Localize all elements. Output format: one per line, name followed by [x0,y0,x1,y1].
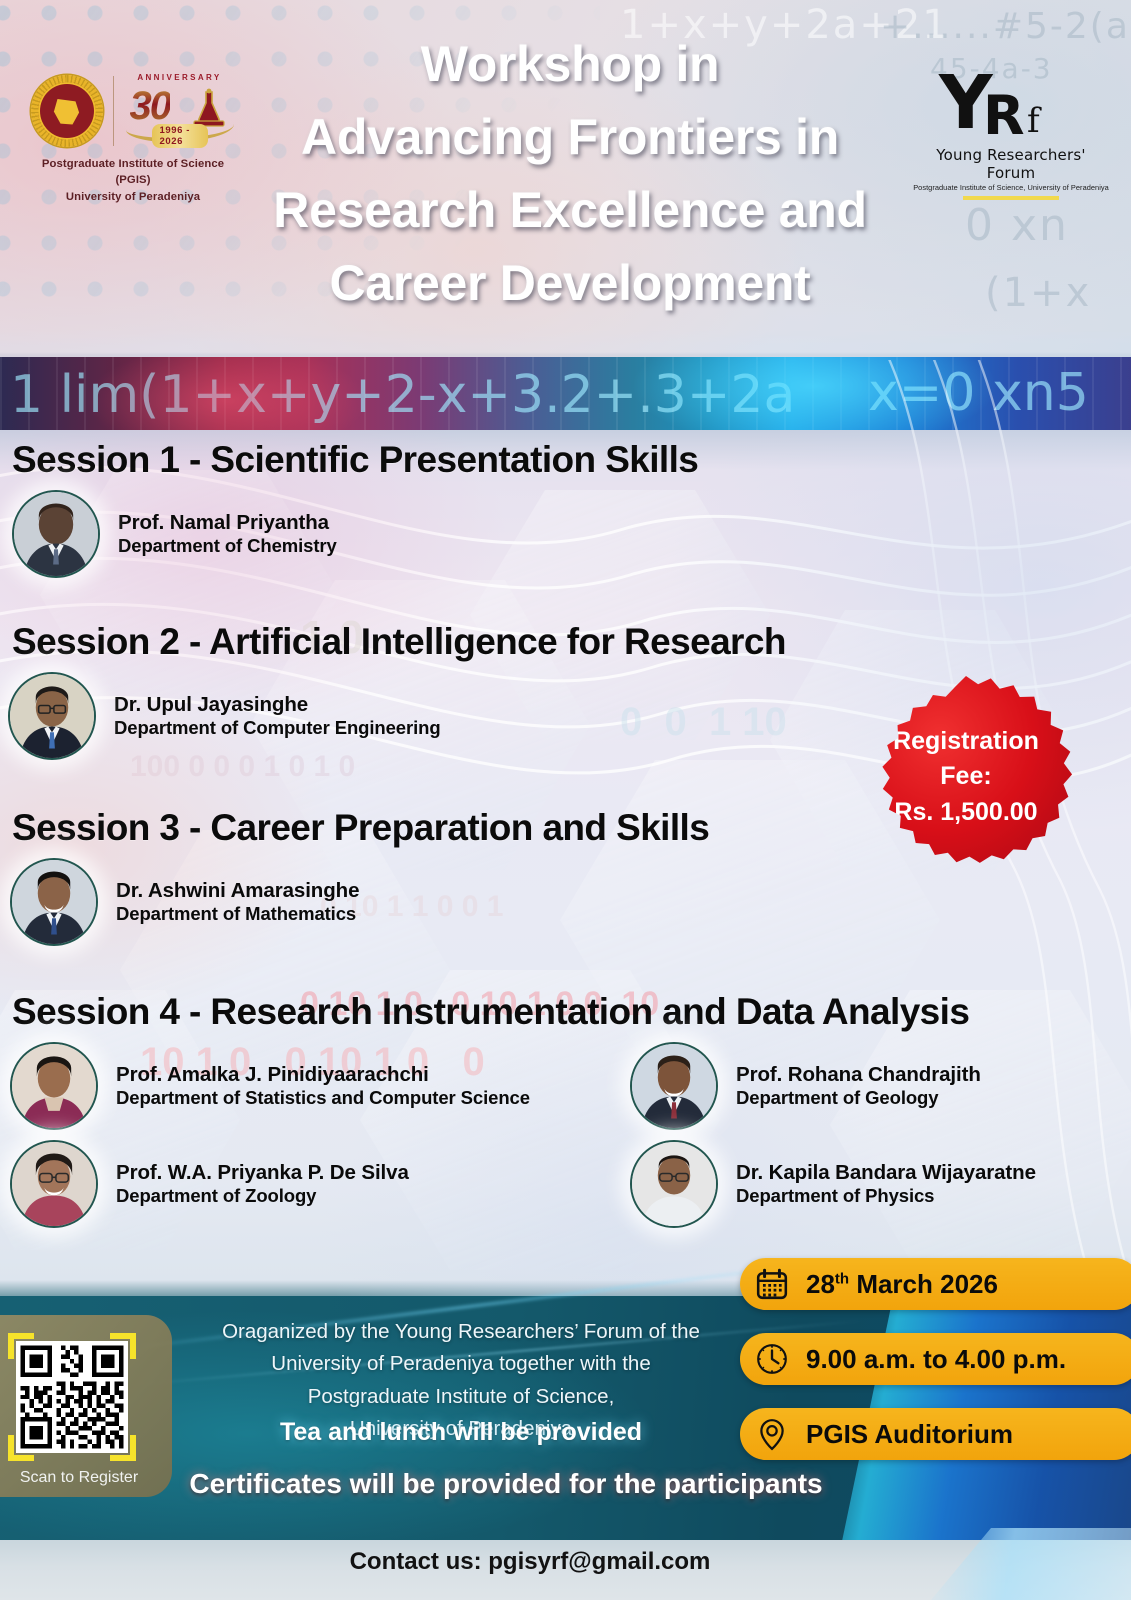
speaker-name: Prof. W.A. Priyanka P. De Silva [116,1161,409,1186]
organizer-line-3: Postgraduate Institute of Science, [176,1381,746,1413]
portrait-icon [12,1044,96,1128]
speaker-name: Dr. Upul Jayasinghe [114,693,441,718]
qr-bracket-bottom-left [8,1435,34,1461]
organizer-line-1: Oraganized by the Young Researchers’ For… [176,1316,746,1348]
yrf-underline [963,196,1059,200]
speaker-department: Department of Zoology [116,1185,409,1207]
session-1: Session 1 - Scientific Presentation Skil… [0,440,1131,578]
date-month-year: March 2026 [849,1269,998,1299]
yrf-logo-block: Y R f Young Researchers' Forum Postgradu… [911,72,1111,200]
clock-icon [750,1337,794,1381]
title-line-1: Workshop in [175,28,965,101]
qr-bracket-top-right [110,1333,136,1359]
speaker-card: Prof. Rohana Chandrajith Department of G… [630,1042,981,1130]
speaker-name: Dr. Ashwini Amarasinghe [116,879,359,904]
speaker-card: Prof. Namal Priyantha Department of Chem… [12,490,337,578]
title-line-2: Advancing Frontiers in [175,101,965,174]
calendar-icon [750,1262,794,1306]
session-1-title: Session 1 - Scientific Presentation Skil… [0,440,1131,480]
venue-badge[interactable]: PGIS Auditorium [740,1408,1131,1460]
speaker-department: Department of Geology [736,1087,981,1109]
certificates-note: Certificates will be provided for the pa… [96,1468,916,1500]
session-4-title: Session 4 - Research Instrumentation and… [0,992,1131,1032]
avatar [8,672,96,760]
speaker-name: Prof. Rohana Chandrajith [736,1063,981,1088]
speaker-department: Department of Physics [736,1185,1036,1207]
title-line-4: Career Development [175,247,965,320]
portrait-icon [12,860,96,944]
speaker-department: Department of Mathematics [116,903,359,925]
avatar [10,1140,98,1228]
location-pin-icon [750,1412,794,1456]
portrait-icon [632,1142,716,1226]
avatar [630,1140,718,1228]
session-4: Session 4 - Research Instrumentation and… [0,992,1131,1228]
date-badge[interactable]: 28th March 2026 [740,1258,1131,1310]
tea-lunch-note: Tea and lunch will be provided [176,1418,746,1447]
speaker-card: Prof. Amalka J. Pinidiyaarachchi Departm… [10,1042,630,1130]
yrf-letter-r: R [983,94,1025,137]
avatar [12,490,100,578]
title-line-3: Research Excellence and [175,174,965,247]
avatar [630,1042,718,1130]
speaker-name: Prof. Namal Priyantha [118,511,337,536]
fee-line-2: Fee: [893,759,1039,795]
qr-bracket-bottom-right [110,1435,136,1461]
portrait-icon [12,1142,96,1226]
speaker-department: Department of Statistics and Computer Sc… [116,1087,530,1109]
time-badge[interactable]: 9.00 a.m. to 4.00 p.m. [740,1333,1131,1385]
poster-root: 1+x+y+2a+21 +......#5-2(a.41 45-4a-3 0 x… [0,0,1131,1600]
speaker-name: Dr. Kapila Bandara Wijayaratne [736,1161,1036,1186]
date-day: 28 [806,1269,835,1299]
time-badge-text: 9.00 a.m. to 4.00 p.m. [806,1344,1066,1375]
yrf-letter-f: f [1027,108,1040,135]
pgis-crest-icon [31,75,103,147]
speaker-card: Dr. Upul Jayasinghe Department of Comput… [8,672,441,760]
speaker-department: Department of Computer Engineering [114,717,441,739]
speaker-card: Prof. W.A. Priyanka P. De Silva Departme… [10,1140,630,1228]
avatar [10,858,98,946]
speaker-department: Department of Chemistry [118,535,337,557]
qr-code[interactable] [8,1333,136,1461]
venue-badge-text: PGIS Auditorium [806,1419,1013,1450]
portrait-icon [14,492,98,576]
yrf-subtitle: Postgraduate Institute of Science, Unive… [911,183,1111,192]
qr-bracket-top-left [8,1333,34,1359]
contact-info: Contact us: pgisyrf@gmail.com [0,1548,1060,1576]
fee-line-1: Registration [893,724,1039,760]
speaker-name: Prof. Amalka J. Pinidiyaarachchi [116,1063,530,1088]
portrait-icon [10,674,94,758]
speaker-card: Dr. Kapila Bandara Wijayaratne Departmen… [630,1140,1036,1228]
page-title: Workshop in Advancing Frontiers in Resea… [175,28,965,320]
session-2-title: Session 2 - Artificial Intelligence for … [0,622,1131,662]
fee-line-3: Rs. 1,500.00 [893,795,1039,831]
yrf-mark-icon: Y R f [911,72,1111,150]
yrf-name: Young Researchers' Forum [911,146,1111,182]
avatar [10,1042,98,1130]
portrait-icon [632,1044,716,1128]
organizer-line-2: University of Peradeniya together with t… [176,1348,746,1380]
speaker-card: Dr. Ashwini Amarasinghe Department of Ma… [10,858,359,946]
logo-divider [113,76,114,146]
date-day-suffix: th [835,1270,849,1287]
date-badge-text: 28th March 2026 [806,1269,998,1300]
